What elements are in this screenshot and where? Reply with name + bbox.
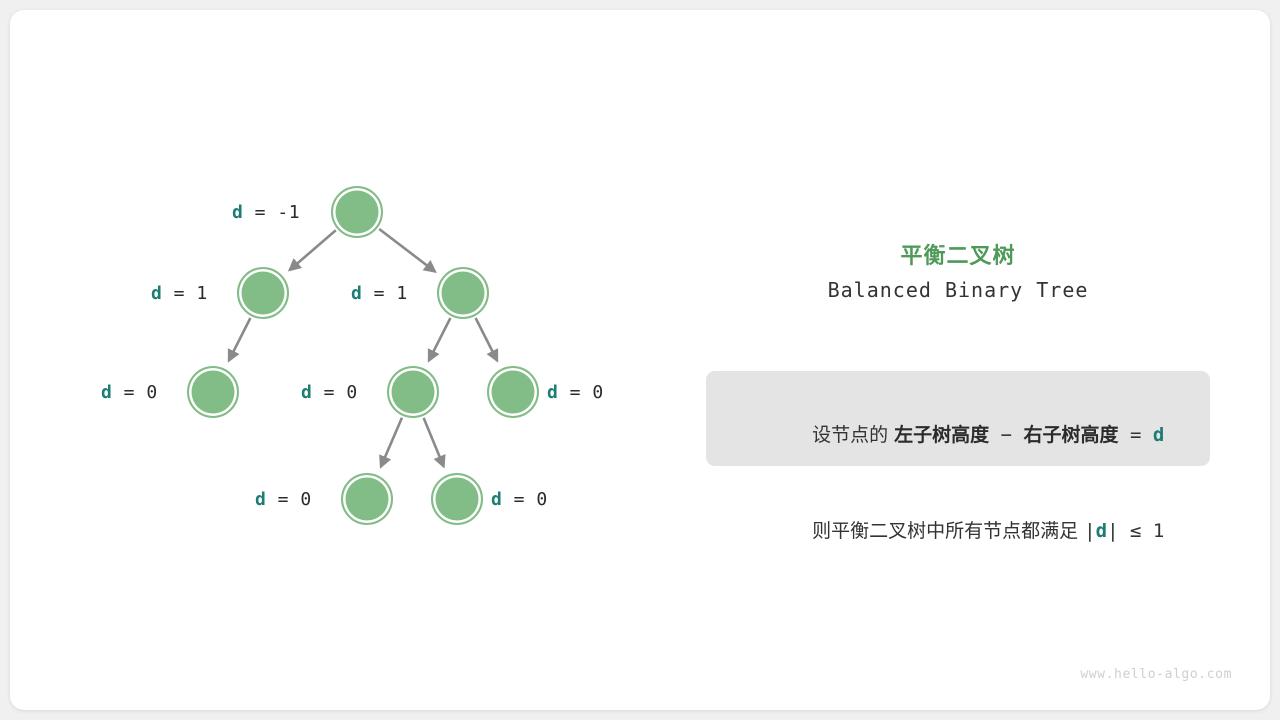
site-watermark: www.hello-algo.com (1080, 667, 1232, 682)
balance-factor-value: = 0 (312, 382, 357, 403)
balance-factor-variable: d (301, 382, 312, 403)
balance-factor-variable: d (101, 382, 112, 403)
balance-factor-value: = 0 (266, 489, 311, 510)
balance-factor-value: = 0 (558, 382, 603, 403)
panel-title: 平衡二叉树 (700, 238, 1216, 270)
balance-factor-value: = 1 (362, 283, 407, 304)
tree-edge (429, 318, 451, 361)
description-panel: 平衡二叉树 Balanced Binary Tree 设节点的 左子树高度 − … (700, 10, 1270, 710)
node-balance-factor-label: d = -1 (232, 204, 300, 222)
panel-subtitle: Balanced Binary Tree (700, 278, 1216, 302)
definition-term-left-subtree-height: 左子树高度 (894, 424, 989, 446)
tree-edge (381, 418, 402, 467)
definition-box: 设节点的 左子树高度 − 右子树高度 = d 则平衡二叉树中所有节点都满足 |d… (706, 371, 1210, 466)
definition-variable-d-abs: d (1096, 520, 1107, 542)
node-balance-factor-label: d = 0 (491, 491, 548, 509)
node-balance-factor-label: d = 0 (547, 384, 604, 402)
definition-minus-sign: − (989, 424, 1023, 446)
tree-node[interactable] (487, 366, 539, 418)
tree-node[interactable] (341, 473, 393, 525)
balance-factor-value: = 0 (502, 489, 547, 510)
tree-node[interactable] (237, 267, 289, 319)
node-balance-factor-label: d = 0 (101, 384, 158, 402)
diagram-canvas: d = -1d = 1d = 1d = 0d = 0d = 0d = 0d = … (0, 0, 1280, 720)
definition-equals-sign: = (1119, 424, 1153, 446)
balance-factor-variable: d (547, 382, 558, 403)
node-balance-factor-label: d = 0 (255, 491, 312, 509)
balance-factor-value: = 0 (112, 382, 157, 403)
node-balance-factor-label: d = 1 (151, 285, 208, 303)
balance-factor-variable: d (232, 202, 243, 223)
definition-variable-d: d (1153, 424, 1164, 446)
definition-line-1: 设节点的 左子树高度 − 右子树高度 = d (706, 387, 1210, 483)
tree-node[interactable] (431, 473, 483, 525)
abs-bar-open: | (1084, 520, 1095, 542)
tree-node[interactable] (331, 186, 383, 238)
balance-factor-variable: d (255, 489, 266, 510)
definition-term-right-subtree-height: 右子树高度 (1024, 424, 1119, 446)
tree-edge (290, 230, 336, 270)
balance-factor-variable: d (351, 283, 362, 304)
balance-factor-variable: d (491, 489, 502, 510)
definition-prefix-1: 设节点的 (812, 424, 894, 446)
tree-node[interactable] (437, 267, 489, 319)
tree-edge (229, 318, 251, 361)
binary-tree-figure: d = -1d = 1d = 1d = 0d = 0d = 0d = 0d = … (10, 10, 690, 710)
definition-prefix-2: 则平衡二叉树中所有节点都满足 (812, 520, 1084, 542)
abs-bar-close: | (1107, 520, 1118, 542)
tree-edge (379, 229, 435, 272)
tree-edges-layer (10, 10, 690, 710)
content-card: d = -1d = 1d = 1d = 0d = 0d = 0d = 0d = … (10, 10, 1270, 710)
tree-edge (476, 318, 498, 361)
tree-edge (424, 418, 444, 467)
balance-factor-value: = 1 (162, 283, 207, 304)
node-balance-factor-label: d = 1 (351, 285, 408, 303)
balance-factor-variable: d (151, 283, 162, 304)
definition-line-2: 则平衡二叉树中所有节点都满足 |d| ≤ 1 (706, 483, 1210, 579)
node-balance-factor-label: d = 0 (301, 384, 358, 402)
tree-node[interactable] (387, 366, 439, 418)
definition-relation: ≤ 1 (1119, 520, 1165, 542)
tree-node[interactable] (187, 366, 239, 418)
balance-factor-value: = -1 (243, 202, 300, 223)
